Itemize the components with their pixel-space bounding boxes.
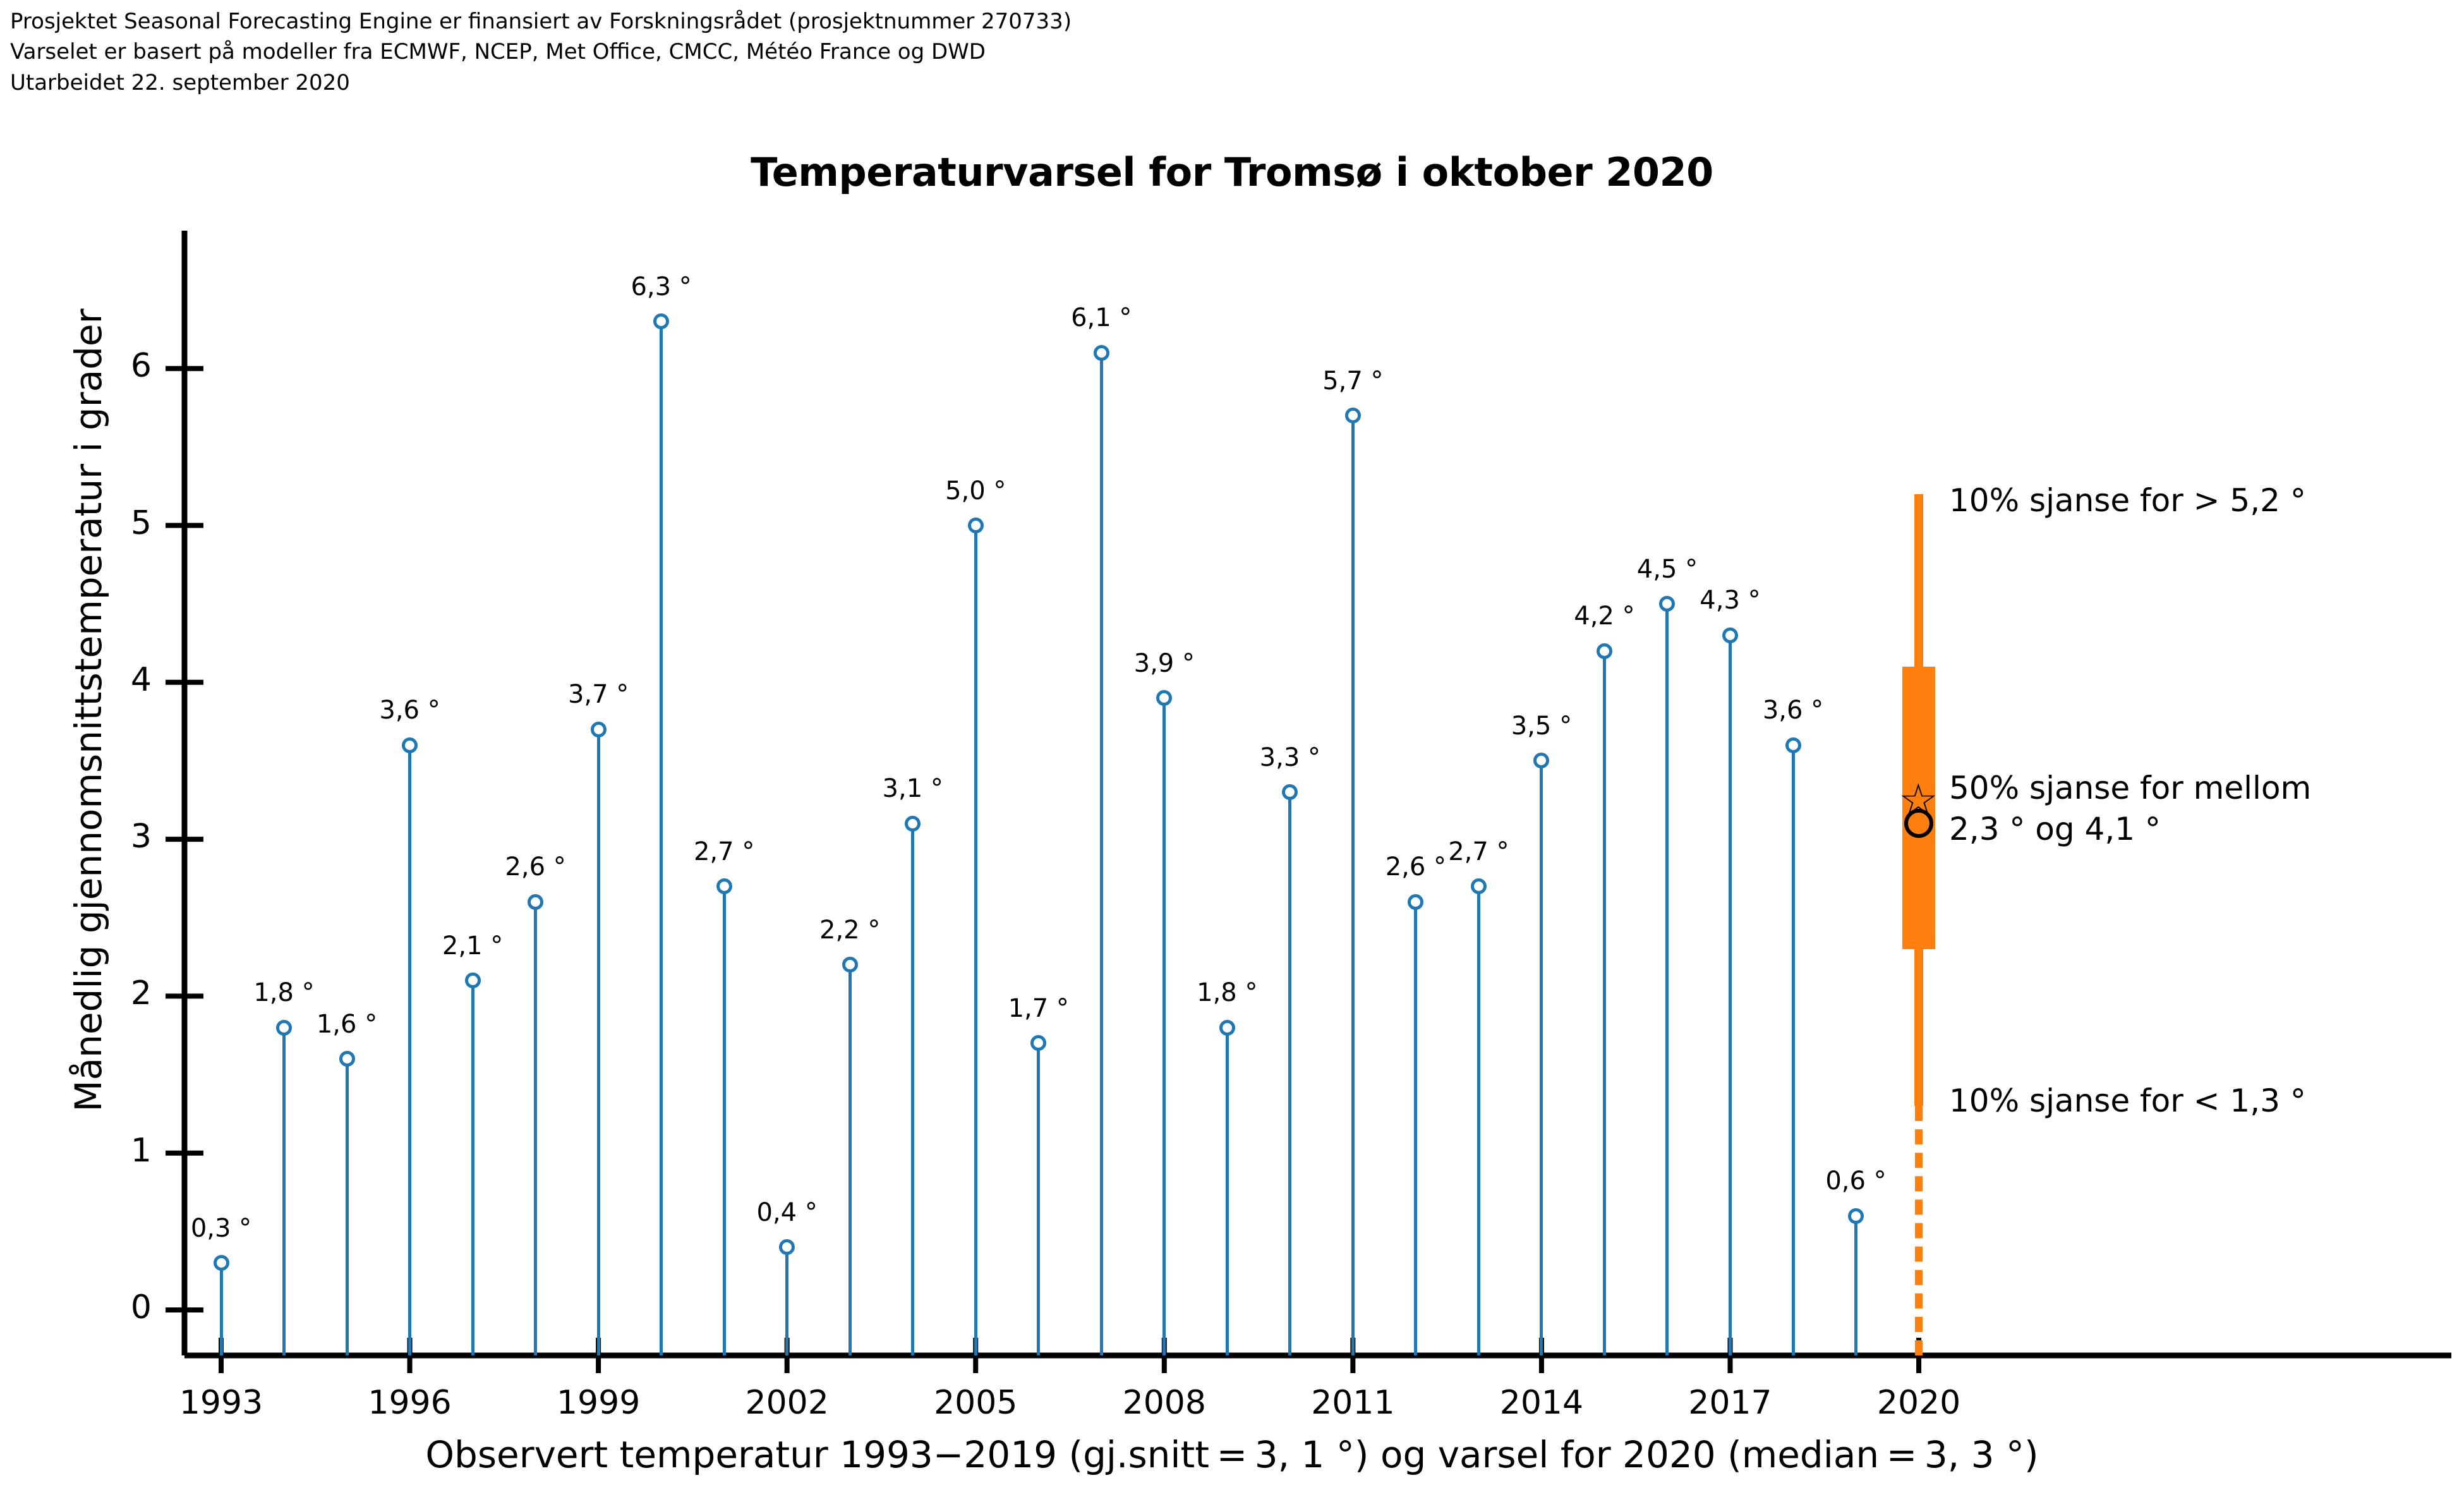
observed-stem (911, 823, 914, 1355)
annotation-interquartile-line2: 2,3 ° og 4,1 ° (1949, 809, 2161, 849)
y-tick-label: 5 (76, 504, 152, 542)
observed-stem (220, 1263, 223, 1355)
y-tick-label: 3 (76, 818, 152, 856)
observed-value-label: 6,1 ° (1032, 303, 1171, 332)
observed-value-label: 4,5 ° (1598, 555, 1737, 584)
observed-point-marker (1094, 345, 1109, 361)
observed-value-label: 0,4 ° (718, 1198, 857, 1227)
observed-point-marker (339, 1051, 355, 1067)
chart-plot-area: Månedlig gjennomsnittstemperatur i grade… (0, 0, 2464, 1509)
forecast-dashed-tail (1915, 1106, 1923, 1355)
observed-value-label: 3,9 ° (1095, 649, 1234, 678)
y-tick-label: 0 (76, 1288, 152, 1326)
annotation-upper-decile: 10% sjanse for > 5,2 ° (1949, 480, 2306, 521)
observed-stem (1665, 604, 1669, 1355)
observed-stem (1351, 416, 1355, 1355)
observed-stem (597, 729, 600, 1355)
x-tick-label: 2011 (1258, 1384, 1447, 1422)
x-tick-label: 1996 (315, 1384, 505, 1422)
observed-point-marker (905, 816, 921, 832)
observed-stem (1037, 1043, 1040, 1355)
observed-value-label: 5,7 ° (1283, 367, 1422, 396)
x-tick-label: 2008 (1070, 1384, 1259, 1422)
observed-point-marker (402, 737, 418, 753)
observed-stem (1729, 635, 1732, 1355)
observed-value-label: 0,3 ° (152, 1214, 291, 1243)
observed-stem (1288, 792, 1291, 1355)
x-tick-label: 1999 (504, 1384, 693, 1422)
observed-value-label: 1,8 ° (1157, 978, 1296, 1007)
observed-value-label: 0,6 ° (1787, 1167, 1926, 1196)
y-tick-label: 4 (76, 661, 152, 699)
observed-stem (1226, 1027, 1229, 1355)
observed-value-label: 1,6 ° (277, 1010, 416, 1039)
observed-value-label: 2,7 ° (1409, 837, 1548, 866)
observed-value-label: 3,5 ° (1472, 712, 1611, 741)
observed-stem (1414, 902, 1417, 1355)
y-tick-label: 1 (76, 1132, 152, 1170)
observed-point-marker (465, 973, 481, 988)
observed-point-marker (1345, 408, 1361, 423)
observed-value-label: 2,2 ° (780, 916, 919, 945)
observed-stem (471, 981, 474, 1355)
observed-stem (1540, 761, 1543, 1355)
x-tick-label: 2002 (692, 1384, 882, 1422)
observed-stem (1854, 1216, 1857, 1355)
observed-stem (1163, 698, 1166, 1355)
observed-stem (974, 526, 977, 1356)
observed-value-label: 3,1 ° (843, 774, 982, 803)
observed-value-label: 3,6 ° (341, 696, 480, 725)
observed-stem (723, 887, 726, 1355)
observed-point-marker (1219, 1020, 1235, 1036)
observed-point-marker (591, 722, 607, 737)
observed-point-marker (716, 878, 732, 894)
observed-value-label: 4,2 ° (1535, 602, 1674, 631)
observed-point-marker (214, 1255, 229, 1271)
observed-value-label: 2,1 ° (403, 931, 542, 961)
observed-stem (849, 965, 852, 1355)
observed-value-label: 3,7 ° (529, 680, 668, 709)
observed-value-label: 5,0 ° (906, 476, 1045, 506)
observed-stem (1603, 651, 1606, 1355)
x-tick-label: 2014 (1447, 1384, 1636, 1422)
observed-point-marker (1848, 1208, 1864, 1224)
observed-stem (282, 1027, 286, 1355)
observed-point-marker (1722, 627, 1738, 643)
forecast-mean-circle-icon (1904, 809, 1933, 838)
y-tick-label: 2 (76, 974, 152, 1012)
annotation-lower-decile: 10% sjanse for < 1,3 ° (1949, 1081, 2306, 1121)
x-tick-label: 1993 (126, 1384, 316, 1422)
observed-stem (408, 745, 411, 1355)
x-axis-label: Observert temperatur 1993−2019 (gj.snitt… (0, 1433, 2464, 1476)
annotation-interquartile-line1: 50% sjanse for mellom (1949, 768, 2311, 808)
observed-stem (1792, 745, 1795, 1355)
observed-point-marker (1785, 737, 1801, 753)
x-tick-label: 2005 (881, 1384, 1070, 1422)
observed-point-marker (528, 894, 543, 910)
observed-value-label: 6,3 ° (592, 272, 731, 301)
observed-point-marker (1471, 878, 1487, 894)
observed-point-marker (1597, 643, 1612, 659)
x-tick-label: 2020 (1824, 1384, 2014, 1422)
y-tick-label: 6 (76, 347, 152, 385)
observed-value-label: 4,3 ° (1660, 586, 1799, 615)
observed-value-label: 2,7 ° (655, 837, 794, 866)
observed-stem (1477, 887, 1480, 1355)
observed-value-label: 2,6 ° (466, 852, 605, 882)
observed-stem (1100, 353, 1103, 1355)
observed-point-marker (968, 518, 984, 533)
observed-value-label: 3,3 ° (1221, 743, 1360, 772)
observed-stem (785, 1247, 788, 1355)
x-tick-label: 2017 (1635, 1384, 1825, 1422)
y-axis-label: Månedlig gjennomsnittstemperatur i grade… (67, 268, 110, 1153)
observed-value-label: 3,6 ° (1724, 696, 1863, 725)
observed-stem (346, 1059, 349, 1355)
observed-stem (534, 902, 537, 1355)
observed-point-marker (842, 957, 858, 973)
observed-value-label: 1,7 ° (969, 994, 1108, 1023)
observed-value-label: 1,8 ° (215, 978, 354, 1007)
